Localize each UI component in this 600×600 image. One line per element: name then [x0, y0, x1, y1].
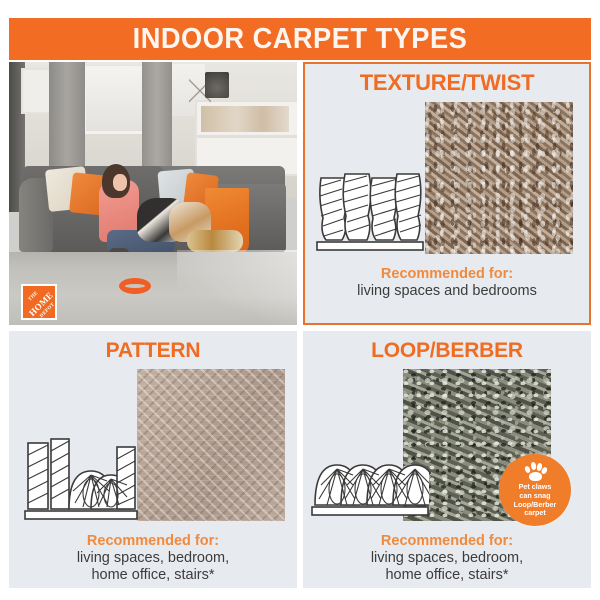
pet-badge-line-4: carpet	[524, 509, 546, 518]
photo-curtain-right	[142, 62, 172, 174]
recommendation-texture-twist: Recommended for: living spaces and bedro…	[305, 266, 589, 300]
pet-warning-badge: Pet claws can snag Loop/Berber carpet	[499, 454, 571, 526]
rec-heading: Recommended for:	[305, 266, 589, 282]
rec-line-2: home office, stairs*	[9, 567, 297, 584]
rec-line-1: living spaces, bedroom,	[303, 550, 591, 567]
diagram-pattern	[23, 435, 139, 527]
page-title: INDOOR CARPET TYPES	[133, 23, 468, 56]
hero-photo-panel: THE HOME DEPOT	[9, 62, 297, 325]
rec-line: living spaces and bedrooms	[305, 283, 589, 300]
photo-lamp	[205, 72, 229, 98]
recommendation-pattern: Recommended for: living spaces, bedroom,…	[9, 533, 297, 584]
photo-dog-lying	[187, 230, 243, 252]
rec-line-1: living spaces, bedroom,	[9, 550, 297, 567]
rec-line-2: home office, stairs*	[303, 567, 591, 584]
swatch-texture-twist	[425, 102, 573, 254]
panel-title-loop-berber: LOOP/BERBER	[303, 339, 591, 363]
photo-shelf-items	[201, 106, 289, 132]
photo-dog-toy-ring	[119, 278, 151, 294]
panel-title-texture-twist: TEXTURE/TWIST	[305, 70, 589, 96]
panel-pattern: PATTERN Recommended for:	[9, 331, 297, 588]
photo-window	[83, 66, 151, 134]
home-depot-logo: THE HOME DEPOT	[21, 284, 57, 320]
photo-woman-face	[113, 174, 127, 191]
photo-sunlight-patch	[177, 250, 297, 325]
paw-print-icon	[524, 462, 546, 481]
rec-heading: Recommended for:	[303, 533, 591, 549]
swatch-pattern	[137, 369, 285, 521]
diagram-loop-berber	[311, 431, 429, 525]
panel-title-pattern: PATTERN	[9, 339, 297, 363]
rec-heading: Recommended for:	[9, 533, 297, 549]
infographic-root: INDOOR CARPET TYPES	[0, 0, 600, 600]
diagram-texture-twist	[315, 168, 425, 256]
photo-curtain-left	[49, 62, 85, 182]
header-banner: INDOOR CARPET TYPES	[9, 18, 591, 60]
panel-texture-twist: TEXTURE/TWIST Recommended for: living sp…	[303, 62, 591, 325]
panel-loop-berber: LOOP/BERBER	[303, 331, 591, 588]
recommendation-loop-berber: Recommended for: living spaces, bedroom,…	[303, 533, 591, 584]
